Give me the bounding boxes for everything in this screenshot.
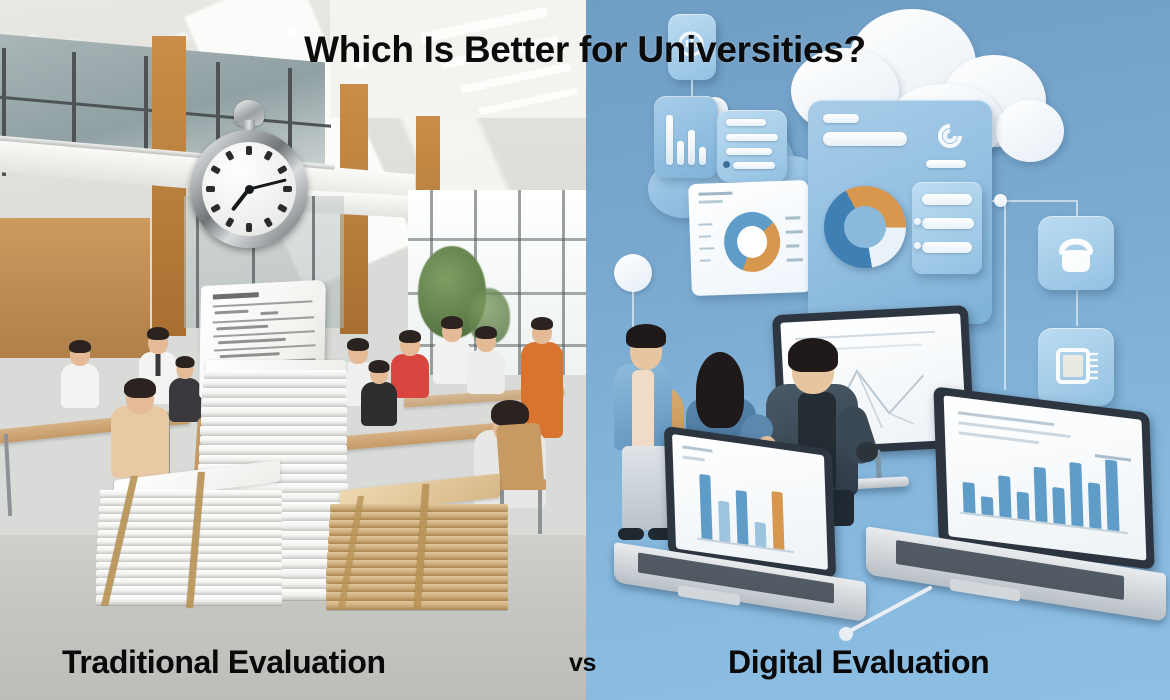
dashboard-list-panel <box>912 182 982 274</box>
digital-evaluation-panel <box>586 0 1170 700</box>
donut-report-card <box>688 180 812 296</box>
student-torso <box>361 382 397 426</box>
chair-leg-2b <box>538 490 542 534</box>
stack-layer <box>200 426 347 436</box>
stack-layer <box>203 379 346 388</box>
stack-layer <box>199 445 347 455</box>
laptop-right-bar-8 <box>1088 482 1102 529</box>
student-torso <box>111 406 169 478</box>
laptop-right-screen <box>944 395 1147 560</box>
laptop-right-bar-7 <box>1069 462 1083 527</box>
form-field-1 <box>726 119 766 126</box>
stack-layer <box>201 417 347 426</box>
clock-tick <box>263 150 273 161</box>
clock-tick <box>277 203 288 213</box>
student-hair <box>176 356 195 368</box>
laptop-right-bar-2 <box>981 496 994 516</box>
dashboard-search-bar <box>823 132 907 146</box>
form-field-3 <box>726 148 772 155</box>
stack-layer <box>202 388 346 398</box>
bundle-layer <box>98 530 282 538</box>
label-digital-evaluation: Digital Evaluation <box>728 644 989 681</box>
page-title: Which Is Better for Universities? <box>0 29 1170 71</box>
clock-tick <box>246 223 252 232</box>
card-bar-1 <box>666 115 673 165</box>
spiral-icon <box>926 112 974 160</box>
woman-hair <box>696 352 744 428</box>
student-torso <box>467 350 505 394</box>
report-legend-line <box>699 235 711 237</box>
sheet-scribble <box>216 325 268 331</box>
sheet-rule-line <box>214 344 316 351</box>
stack-layer <box>202 398 347 407</box>
card-bar-4 <box>699 147 706 165</box>
student-hair <box>69 340 91 353</box>
laptop-left-screen <box>672 434 828 570</box>
clock-tick <box>263 217 273 228</box>
form-field-4 <box>733 162 775 169</box>
label-traditional-evaluation: Traditional Evaluation <box>62 644 386 681</box>
dashboard-title-pill <box>823 114 859 123</box>
laptop-right-bar-1 <box>963 482 976 514</box>
list-bullet-icon <box>914 242 921 249</box>
sheet-rule-line <box>213 330 315 337</box>
cloud-lobe-far-right <box>996 100 1064 162</box>
clock-tick <box>246 146 252 155</box>
student-hair <box>124 378 156 398</box>
laptop-left-bar-3 <box>736 490 749 545</box>
bundled-white-paper-stack <box>96 470 282 608</box>
form-bullet-icon <box>723 161 730 168</box>
stopwatch-case <box>190 130 308 248</box>
window-mullion-h1 <box>408 238 586 241</box>
sheet-heading <box>213 292 259 299</box>
student-hair <box>531 317 553 330</box>
laptop-left-bar-5 <box>771 491 784 550</box>
list-row-2 <box>922 218 974 229</box>
label-versus: vs <box>569 649 596 678</box>
form-field-2 <box>726 134 778 141</box>
student-12 <box>352 352 406 456</box>
chip-icon-card <box>1038 328 1114 406</box>
main-dashboard-card <box>808 100 992 324</box>
floating-dot-left <box>614 254 652 292</box>
student-hair <box>347 338 369 351</box>
comparison-infographic: Which Is Better for Universities? Tradit… <box>0 0 1170 700</box>
connector-rail-vertical <box>1004 200 1006 390</box>
report-heading-line <box>698 192 732 196</box>
laptop-left-bar-1 <box>699 474 712 540</box>
lock-icon <box>1038 216 1114 290</box>
report-legend-line <box>699 247 714 250</box>
laptop-left-screen-rule <box>683 455 705 461</box>
list-bullet-icon <box>914 218 921 225</box>
bar-chart-card <box>654 96 718 178</box>
sheet-scribble <box>220 352 280 358</box>
desk-leg-1a <box>4 434 12 516</box>
clock-tick <box>210 203 221 213</box>
report-value-line <box>786 230 803 234</box>
dashboard-donut-hole <box>844 206 886 248</box>
stack-layer <box>201 407 347 417</box>
student-hair <box>399 330 421 343</box>
clock-tick <box>225 217 235 228</box>
bundle-layer <box>97 546 282 554</box>
chip-icon <box>1038 328 1114 406</box>
laptop-right-bar-4 <box>1017 492 1030 521</box>
clock-center-hub <box>245 185 254 194</box>
bundle-layer <box>97 538 282 546</box>
stopwatch-clock <box>186 100 310 250</box>
student-hair <box>491 400 529 426</box>
card-bar-3 <box>688 130 695 165</box>
dashboard-subtitle-pill <box>926 160 966 168</box>
laptop-left-screen-rule <box>682 445 712 452</box>
report-value-line <box>787 258 803 262</box>
bundle-layer <box>96 554 282 562</box>
student-torso <box>61 364 99 408</box>
stopwatch-face <box>202 142 296 236</box>
student-hair <box>475 326 497 339</box>
clock-minute-hand <box>249 178 287 190</box>
list-row-3 <box>922 242 972 253</box>
student-hair <box>147 327 169 340</box>
laptop-right-bar-6 <box>1052 487 1065 525</box>
clock-tick <box>277 165 288 175</box>
sheet-scribble <box>260 311 278 315</box>
laptop-right-bar-3 <box>998 475 1011 518</box>
clock-tick <box>206 186 215 192</box>
clock-tick <box>283 186 292 192</box>
clock-tick <box>210 165 221 175</box>
student-hair <box>369 360 390 373</box>
man-hair <box>788 338 838 372</box>
stylus-pen-icon <box>834 578 954 648</box>
chair-back-2 <box>496 423 544 484</box>
traditional-evaluation-panel <box>0 0 586 700</box>
report-legend-line <box>698 223 712 225</box>
report-value-line <box>786 244 799 247</box>
connector-rail-lock-to-chip <box>1076 288 1078 326</box>
list-row-1 <box>922 194 972 205</box>
clock-tick <box>225 150 235 161</box>
report-legend-line <box>700 259 711 261</box>
sheet-rule-line <box>212 316 314 323</box>
stack-layer <box>200 436 347 445</box>
sheet-scribble <box>215 310 249 315</box>
card-bar-2 <box>677 141 684 165</box>
sheet-rule-line <box>213 300 313 307</box>
lock-icon-card <box>1038 216 1114 290</box>
bundled-kraft-paper-stack <box>326 482 508 610</box>
standing-hair <box>626 324 666 348</box>
report-sub-line <box>699 200 723 204</box>
laptop-left-bar-4 <box>755 522 767 548</box>
laptop-right-bar-5 <box>1034 467 1048 523</box>
report-value-line <box>785 216 800 220</box>
laptop-left-bar-2 <box>718 500 730 542</box>
form-list-card <box>717 110 787 182</box>
stack-layer <box>204 370 346 379</box>
laptop-right-bar-9 <box>1105 459 1119 531</box>
laptop-right-screen-rule <box>959 431 1039 444</box>
sheet-scribble <box>218 338 286 345</box>
